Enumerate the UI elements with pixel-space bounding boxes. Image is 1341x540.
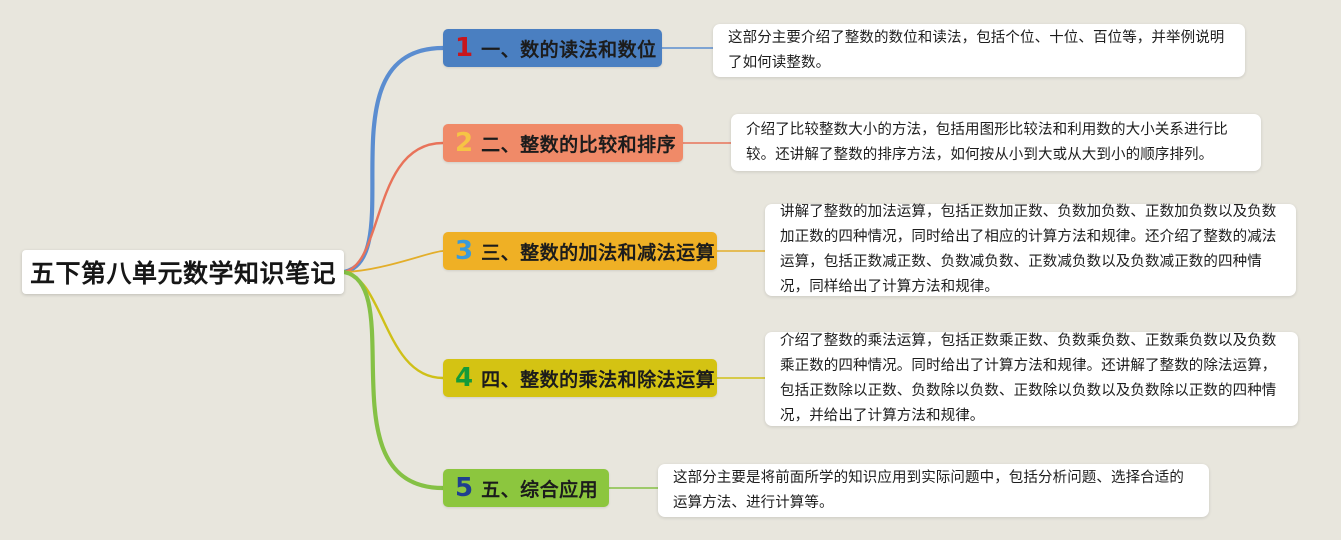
branch-number-3: 3 — [455, 238, 473, 264]
root-title: 五下第八单元数学知识笔记 — [30, 254, 336, 290]
branch-label-3: 三、整数的加法和减法运算 — [481, 238, 715, 265]
connector-branch-5 — [344, 272, 443, 488]
detail-card-3[interactable]: 讲解了整数的加法运算，包括正数加正数、负数加负数、正数加负数以及负数加正数的四种… — [765, 204, 1296, 296]
mindmap-canvas: 五下第八单元数学知识笔记 1 一、数的读法和数位 2 二、整数的比较和排序 3 … — [0, 0, 1341, 540]
detail-text-1: 这部分主要介绍了整数的数位和读法，包括个位、十位、百位等，并举例说明了如何读整数… — [728, 26, 1231, 76]
branch-number-4: 4 — [455, 365, 473, 391]
branch-number-5: 5 — [455, 475, 473, 501]
branch-node-3[interactable]: 3 三、整数的加法和减法运算 — [443, 232, 717, 270]
branch-number-2: 2 — [455, 130, 473, 156]
branch-label-1: 一、数的读法和数位 — [481, 35, 657, 62]
detail-card-5[interactable]: 这部分主要是将前面所学的知识应用到实际问题中，包括分析问题、选择合适的运算方法、… — [658, 464, 1209, 517]
detail-text-5: 这部分主要是将前面所学的知识应用到实际问题中，包括分析问题、选择合适的运算方法、… — [673, 466, 1195, 516]
branch-label-4: 四、整数的乘法和除法运算 — [481, 365, 715, 392]
detail-text-3: 讲解了整数的加法运算，包括正数加正数、负数加负数、正数加负数以及负数加正数的四种… — [780, 200, 1282, 300]
connector-branch-3 — [344, 251, 443, 272]
branch-label-5: 五、综合应用 — [481, 475, 598, 502]
connector-branch-2 — [344, 143, 443, 272]
branch-label-2: 二、整数的比较和排序 — [481, 130, 676, 157]
branch-node-4[interactable]: 4 四、整数的乘法和除法运算 — [443, 359, 717, 397]
branch-node-5[interactable]: 5 五、综合应用 — [443, 469, 609, 507]
detail-card-4[interactable]: 介绍了整数的乘法运算，包括正数乘正数、负数乘负数、正数乘负数以及负数乘正数的四种… — [765, 332, 1298, 426]
branch-number-1: 1 — [455, 35, 473, 61]
branch-node-2[interactable]: 2 二、整数的比较和排序 — [443, 124, 683, 162]
detail-card-2[interactable]: 介绍了比较整数大小的方法，包括用图形比较法和利用数的大小关系进行比较。还讲解了整… — [731, 114, 1261, 171]
branch-node-1[interactable]: 1 一、数的读法和数位 — [443, 29, 662, 67]
connector-branch-1 — [344, 48, 443, 272]
detail-text-4: 介绍了整数的乘法运算，包括正数乘正数、负数乘负数、正数乘负数以及负数乘正数的四种… — [780, 329, 1284, 429]
connector-branch-4 — [344, 272, 443, 378]
detail-card-1[interactable]: 这部分主要介绍了整数的数位和读法，包括个位、十位、百位等，并举例说明了如何读整数… — [713, 24, 1245, 77]
detail-text-2: 介绍了比较整数大小的方法，包括用图形比较法和利用数的大小关系进行比较。还讲解了整… — [746, 118, 1247, 168]
root-node[interactable]: 五下第八单元数学知识笔记 — [22, 250, 344, 294]
